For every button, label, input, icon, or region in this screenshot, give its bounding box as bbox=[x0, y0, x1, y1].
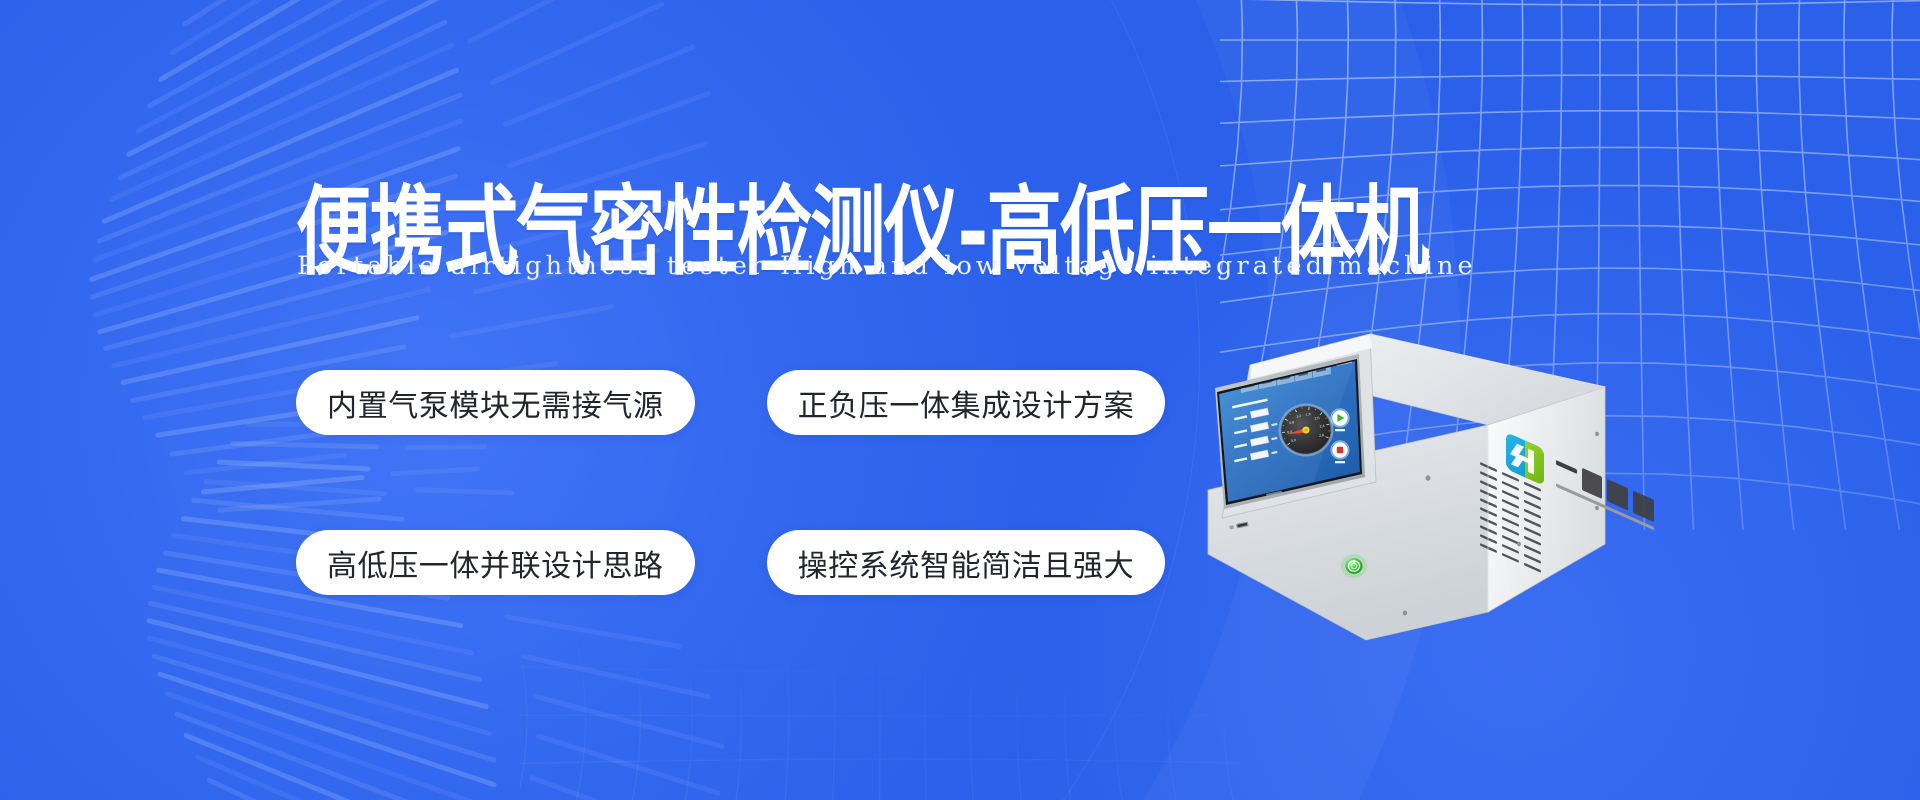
page-subtitle: Portable airtightness tester-High and lo… bbox=[297, 251, 1477, 281]
product-image: 0.00.40.81.21.62.02.42.8 bbox=[1188, 322, 1638, 662]
promotional-banner: 便携式气密性检测仪-高低压一体机 Portable airtightness t… bbox=[0, 0, 1920, 800]
banner-content: 便携式气密性检测仪-高低压一体机 Portable airtightness t… bbox=[0, 0, 1920, 800]
feature-pill-3[interactable]: 高低压一体并联设计思路 bbox=[296, 530, 695, 595]
feature-pill-4-label: 操控系统智能简洁且强大 bbox=[798, 541, 1135, 585]
feature-pill-2[interactable]: 正负压一体集成设计方案 bbox=[767, 370, 1166, 435]
feature-pill-grid: 内置气泵模块无需接气源 正负压一体集成设计方案 高低压一体并联设计思路 操控系统… bbox=[296, 370, 1165, 595]
feature-pill-4[interactable]: 操控系统智能简洁且强大 bbox=[767, 530, 1166, 595]
power-button[interactable] bbox=[1341, 554, 1367, 578]
feature-pill-3-label: 高低压一体并联设计思路 bbox=[327, 541, 664, 585]
feature-pill-1[interactable]: 内置气泵模块无需接气源 bbox=[296, 370, 695, 435]
feature-pill-1-label: 内置气泵模块无需接气源 bbox=[327, 381, 664, 425]
feature-pill-2-label: 正负压一体集成设计方案 bbox=[798, 381, 1135, 425]
